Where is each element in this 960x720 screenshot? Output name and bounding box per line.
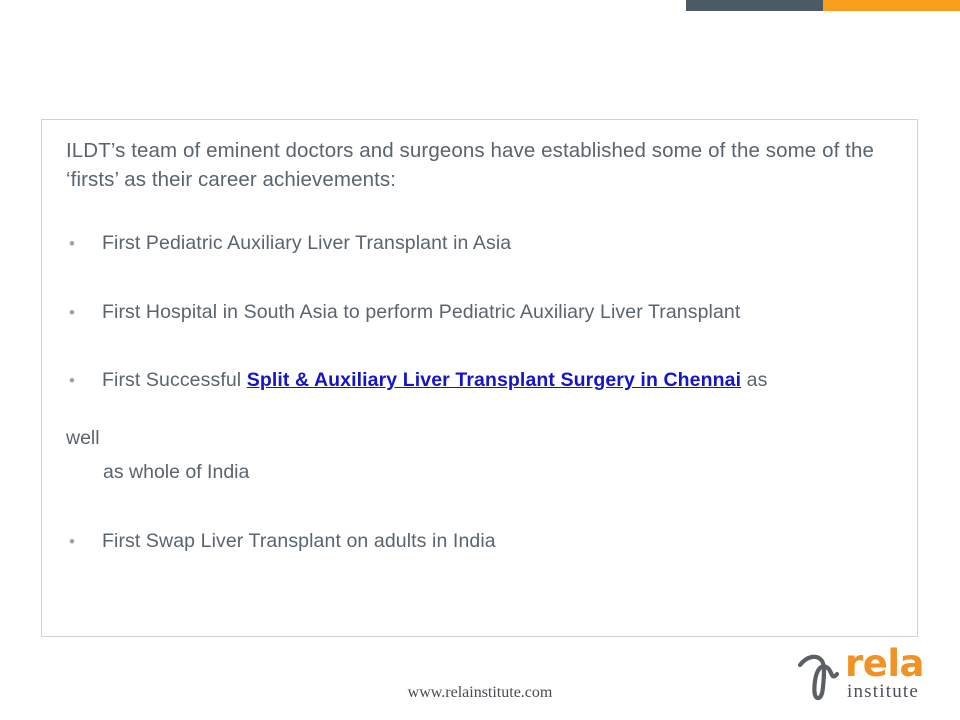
bullet-marker-icon: • [66,528,102,555]
bullet-marker-icon: • [66,299,102,326]
list-item-label: First Pediatric Auxiliary Liver Transpla… [102,230,906,257]
slide-heading: ILDT’s team of eminent doctors and surge… [66,136,886,194]
top-bar-orange-segment [823,0,960,11]
list-item-label: First Hospital in South Asia to perform … [102,299,906,326]
top-decorative-bars [686,0,960,11]
slide-content-box: ILDT’s team of eminent doctors and surge… [41,119,918,637]
top-bar-grey-segment [686,0,823,11]
logo-subtitle-text: institute [847,682,955,702]
list-item-text-after-link: as [741,369,767,391]
logo-brand-text: rela [845,645,955,683]
list-item: • First Successful Split & Auxiliary Liv… [66,367,906,394]
list-item-label: First Swap Liver Transplant on adults in… [102,528,906,555]
list-item-wrap-line-india: as whole of India [103,459,906,486]
list-item-text-before-link: First Successful [102,369,247,391]
bullet-marker-icon: • [66,230,102,257]
rela-institute-logo: rela institute [797,645,955,707]
split-auxiliary-liver-transplant-link[interactable]: Split & Auxiliary Liver Transplant Surge… [247,369,741,391]
list-item-label: First Successful Split & Auxiliary Liver… [102,367,906,394]
rela-swoosh-icon [797,649,849,701]
list-item: • First Hospital in South Asia to perfor… [66,299,906,326]
logo-wordmark: rela institute [845,645,955,702]
list-item-wrap-line-well: well [66,425,906,452]
achievements-bullet-list: • First Pediatric Auxiliary Liver Transp… [66,230,906,555]
bullet-marker-icon: • [66,367,102,394]
list-item: • First Pediatric Auxiliary Liver Transp… [66,230,906,257]
list-item: • First Swap Liver Transplant on adults … [66,528,906,555]
